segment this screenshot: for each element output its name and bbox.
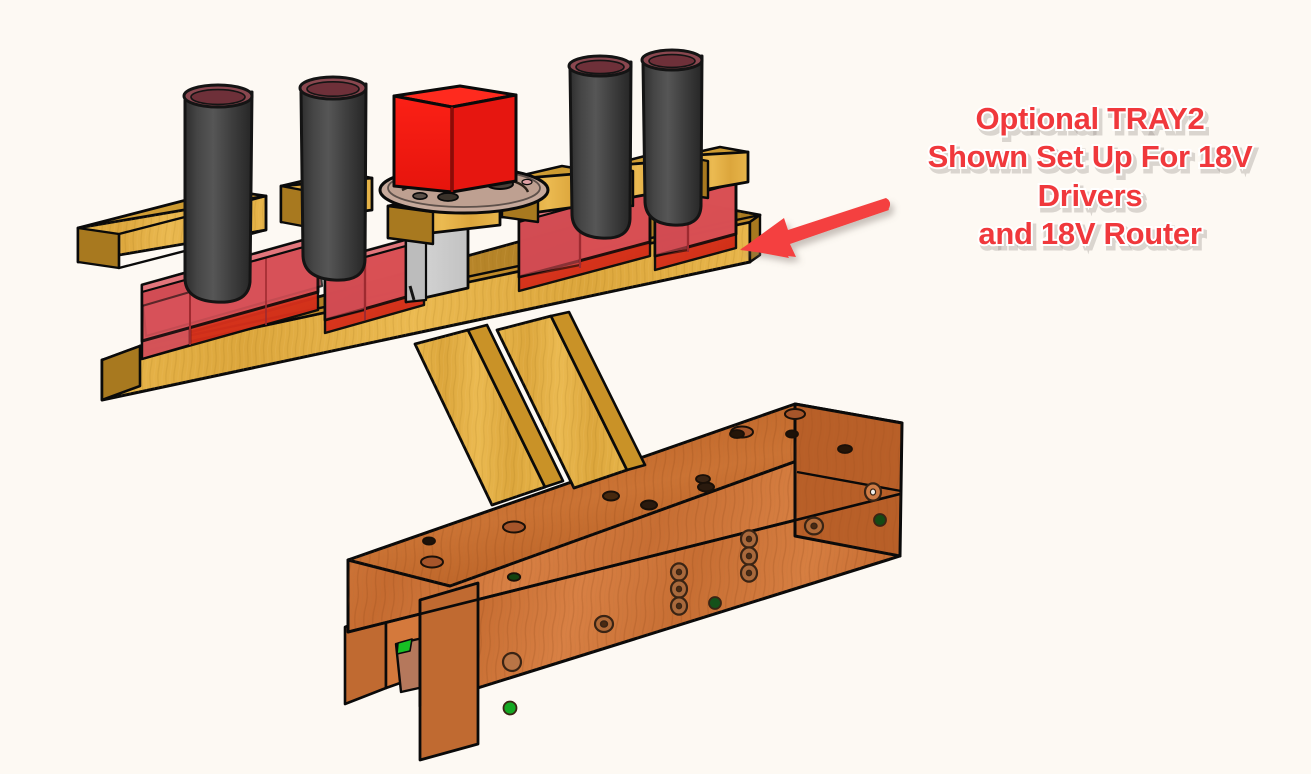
diagram-canvas: Optional TRAY2 Shown Set Up For 18V Driv… [0, 0, 1311, 774]
driver-cylinder-3 [569, 56, 631, 238]
driver-cylinder-4 [642, 50, 702, 225]
bench-leg-block [420, 583, 478, 760]
driver-cylinder-2 [300, 77, 366, 280]
router-body-red [394, 86, 516, 192]
driver-cylinder-1 [184, 85, 252, 302]
workbench-3d-illustration [0, 0, 1311, 774]
